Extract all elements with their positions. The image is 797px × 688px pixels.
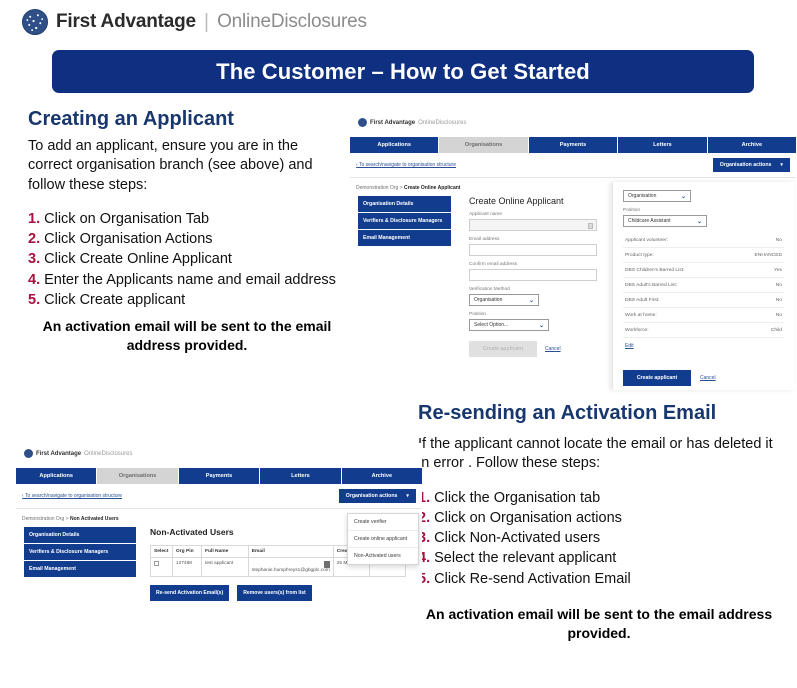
back-to-search-link[interactable]: ‹ To search/navigate to organisation str… bbox=[356, 162, 456, 168]
cell-email-text: stephanie.humphreys1@gbgplc.com bbox=[252, 568, 330, 573]
list-item: 1. Click on Organisation Tab bbox=[28, 209, 346, 229]
chevron-down-icon: ⌄ bbox=[681, 193, 686, 200]
detail-row: Applicant volunteer:No bbox=[623, 233, 784, 248]
sidebar-item-verifiers[interactable]: Verifiers & Disclosure Managers bbox=[24, 544, 136, 561]
detail-value: No bbox=[776, 298, 782, 303]
app-brand: First Advantage OnlineDisclosures bbox=[350, 112, 796, 127]
chevron-down-icon: ▾ bbox=[780, 162, 783, 168]
title-banner: The Customer – How to Get Started bbox=[52, 50, 754, 93]
step-text: Click Create Online Applicant bbox=[44, 251, 232, 267]
list-item: 5. Click Re-send Activation Email bbox=[418, 569, 780, 589]
sidebar-item-organisation-details[interactable]: Organisation Details bbox=[358, 196, 451, 213]
breadcrumb-current: Create Online Applicant bbox=[404, 185, 461, 191]
step-number: 3. bbox=[28, 251, 40, 267]
tab-payments[interactable]: Payments bbox=[529, 137, 618, 153]
tab-organisations[interactable]: Organisations bbox=[439, 137, 528, 153]
verification-method-label: Verification Method bbox=[469, 287, 597, 292]
breadcrumb-root[interactable]: Demonstration Org bbox=[22, 516, 64, 522]
detail-row: DBS Adult's Barred List:No bbox=[623, 278, 784, 293]
panel-actions: Create applicant Cancel bbox=[623, 370, 784, 386]
detail-label: Workforce: bbox=[625, 328, 649, 333]
step-text: Click the Organisation tab bbox=[434, 490, 600, 506]
tab-letters[interactable]: Letters bbox=[618, 137, 707, 153]
list-item: 5. Click Create applicant bbox=[28, 290, 346, 310]
tab-payments[interactable]: Payments bbox=[179, 468, 260, 484]
create-applicant-form: Create Online Applicant Applicant name E… bbox=[469, 196, 597, 357]
list-item: 4. Enter the Applicants name and email a… bbox=[28, 270, 346, 290]
row-checkbox[interactable] bbox=[154, 561, 159, 566]
table-actions: Re-send Activation Email(s) Remove users… bbox=[150, 585, 406, 601]
slide-page: First Advantage | OnlineDisclosures The … bbox=[0, 0, 797, 688]
brand-product: OnlineDisclosures bbox=[217, 11, 367, 33]
panel-position-value: Childcare Assistant bbox=[628, 218, 671, 224]
main-nav: Applications Organisations Payments Lett… bbox=[16, 468, 422, 484]
cell-email: stephanie.humphreys1@gbgplc.com bbox=[248, 558, 333, 577]
back-link-label: To search/navigate to organisation struc… bbox=[359, 162, 456, 168]
organisation-actions-button[interactable]: Organisation actions ▾ bbox=[339, 489, 416, 503]
menu-item-create-online-applicant[interactable]: Create online applicant bbox=[348, 531, 418, 548]
list-item: 3. Click Non-Activated users bbox=[418, 528, 780, 548]
panel-create-applicant-button[interactable]: Create applicant bbox=[623, 370, 691, 386]
step-number: 4. bbox=[28, 272, 40, 288]
confirm-email-input[interactable] bbox=[469, 269, 597, 281]
chevron-down-icon: ⌄ bbox=[529, 297, 534, 304]
sidebar-item-organisation-details[interactable]: Organisation Details bbox=[24, 527, 136, 544]
tab-archive[interactable]: Archive bbox=[342, 468, 422, 484]
organisation-actions-button[interactable]: Organisation actions ▾ bbox=[713, 158, 790, 172]
section-intro-creating: To add an applicant, ensure you are in t… bbox=[28, 137, 346, 195]
brand-separator: | bbox=[204, 11, 209, 34]
position-value: Select Option... bbox=[474, 322, 508, 328]
steps-list-resending: 1. Click the Organisation tab 2. Click o… bbox=[418, 488, 780, 589]
brand-name: First Advantage bbox=[56, 11, 196, 33]
section-intro-resending: If the applicant cannot locate the email… bbox=[418, 435, 780, 474]
list-item: 4. Select the relevant applicant bbox=[418, 548, 780, 568]
form-actions: Create applicant Cancel bbox=[469, 341, 597, 357]
sidebar-item-email-management[interactable]: Email Management bbox=[358, 230, 451, 247]
detail-label: DBS Adult First: bbox=[625, 298, 660, 303]
step-text: Select the relevant applicant bbox=[434, 550, 616, 566]
sidebar-item-verifiers[interactable]: Verifiers & Disclosure Managers bbox=[358, 213, 451, 230]
column-select: Select bbox=[151, 546, 173, 558]
left-sidebar: Organisation Details Verifiers & Disclos… bbox=[358, 196, 451, 357]
detail-label: DBS Children's Barred List: bbox=[625, 268, 684, 273]
steps-list-creating: 1. Click on Organisation Tab 2. Click Or… bbox=[28, 209, 346, 310]
step-text: Click Create applicant bbox=[44, 292, 185, 308]
organisation-actions-menu: Create verifier Create online applicant … bbox=[347, 513, 419, 565]
organisation-actions-label: Organisation actions bbox=[346, 493, 398, 499]
detail-label: DBS Adult's Barred List: bbox=[625, 283, 677, 288]
cancel-link[interactable]: Cancel bbox=[545, 346, 561, 352]
person-icon bbox=[588, 223, 593, 229]
detail-row: DBS Adult First:No bbox=[623, 293, 784, 308]
position-label: Position bbox=[469, 312, 597, 317]
section-heading-resending: Re-sending an Activation Email bbox=[418, 402, 780, 425]
resend-activation-email-button[interactable]: Re-send Activation Email(s) bbox=[150, 585, 229, 601]
position-select[interactable]: Select Option... ⌄ bbox=[469, 319, 549, 331]
tab-organisations[interactable]: Organisations bbox=[97, 468, 178, 484]
step-number: 2. bbox=[28, 231, 40, 247]
menu-item-non-activated-users[interactable]: Non-Activated users bbox=[348, 548, 418, 564]
step-text: Click Non-Activated users bbox=[434, 530, 600, 546]
breadcrumb-root[interactable]: Demonstration Org bbox=[356, 185, 398, 191]
column-email: Email bbox=[248, 546, 333, 558]
detail-row: DBS Children's Barred List:Yes bbox=[623, 263, 784, 278]
chevron-left-icon: ‹ bbox=[356, 162, 358, 168]
chevron-left-icon: ‹ bbox=[22, 493, 24, 499]
note-creating: An activation email will be sent to the … bbox=[28, 317, 346, 354]
step-text: Click on Organisation Tab bbox=[44, 211, 209, 227]
breadcrumb-separator: > bbox=[66, 516, 69, 522]
step-text: Click Re-send Activation Email bbox=[434, 571, 631, 587]
organisation-actions-label: Organisation actions bbox=[720, 162, 772, 168]
detail-value: Child bbox=[771, 328, 782, 333]
detail-value: ENHANCED bbox=[755, 253, 782, 258]
detail-row: Work at home:No bbox=[623, 308, 784, 323]
sub-toolbar: ‹ To search/navigate to organisation str… bbox=[350, 153, 796, 178]
detail-value: No bbox=[776, 238, 782, 243]
step-text: Click Organisation Actions bbox=[44, 231, 212, 247]
organisation-select-value: Organisation bbox=[628, 193, 656, 199]
confirm-email-label: Confirm email address bbox=[469, 262, 597, 267]
tab-applications[interactable]: Applications bbox=[16, 468, 97, 484]
step-text: Enter the Applicants name and email addr… bbox=[44, 272, 336, 288]
app-brand-name: First Advantage bbox=[370, 120, 415, 126]
edit-link[interactable]: Edit bbox=[623, 338, 784, 354]
brand-header: First Advantage | OnlineDisclosures bbox=[22, 9, 367, 35]
chevron-down-icon: ⌄ bbox=[539, 322, 544, 329]
details-list: Applicant volunteer:No Product type:ENHA… bbox=[623, 233, 784, 338]
note-resending: An activation email will be sent to the … bbox=[418, 605, 780, 642]
panel-cancel-link[interactable]: Cancel bbox=[700, 375, 716, 381]
resending-email-section: Re-sending an Activation Email If the ap… bbox=[418, 402, 780, 642]
sidebar-item-email-management[interactable]: Email Management bbox=[24, 561, 136, 578]
detail-value: No bbox=[776, 283, 782, 288]
page-title: The Customer – How to Get Started bbox=[216, 59, 590, 85]
creating-applicant-section: Creating an Applicant To add an applican… bbox=[28, 108, 346, 354]
app-brand: First Advantage OnlineDisclosures bbox=[16, 443, 422, 458]
chevron-down-icon: ⌄ bbox=[697, 218, 702, 225]
email-address-input[interactable] bbox=[469, 244, 597, 256]
panel-position-label: Position bbox=[623, 208, 784, 213]
list-item: 1. Click the Organisation tab bbox=[418, 488, 780, 508]
menu-item-create-verifier[interactable]: Create verifier bbox=[348, 514, 418, 531]
app-brand-name: First Advantage bbox=[36, 451, 81, 457]
detail-label: Applicant volunteer: bbox=[625, 238, 668, 243]
cell-org-pin: 127488 bbox=[172, 558, 201, 577]
section-heading-creating: Creating an Applicant bbox=[28, 108, 346, 131]
cell-select[interactable] bbox=[151, 558, 173, 577]
breadcrumb-current: Non Activated Users bbox=[70, 516, 119, 522]
breadcrumb-separator: > bbox=[400, 185, 403, 191]
tab-archive[interactable]: Archive bbox=[708, 137, 796, 153]
sub-toolbar: ‹ To search/navigate to organisation str… bbox=[16, 484, 422, 509]
left-sidebar: Organisation Details Verifiers & Disclos… bbox=[24, 527, 136, 601]
column-org-pin: Org Pin bbox=[172, 546, 201, 558]
detail-value: Yes bbox=[774, 268, 782, 273]
list-item: 3. Click Create Online Applicant bbox=[28, 249, 346, 269]
list-item: 2. Click on Organisation actions bbox=[418, 508, 780, 528]
globe-icon bbox=[22, 9, 48, 35]
tab-letters[interactable]: Letters bbox=[260, 468, 341, 484]
email-icon bbox=[324, 561, 330, 568]
list-item: 2. Click Organisation Actions bbox=[28, 229, 346, 249]
form-title: Create Online Applicant bbox=[469, 196, 597, 206]
detail-value: No bbox=[776, 313, 782, 318]
verification-method-value: Organisation bbox=[474, 297, 502, 303]
detail-label: Product type: bbox=[625, 253, 654, 258]
panel-position-select[interactable]: Childcare Assistant ⌄ bbox=[623, 215, 707, 227]
step-number: 5. bbox=[28, 292, 40, 308]
step-number: 1. bbox=[28, 211, 40, 227]
remove-users-from-list-button[interactable]: Remove users(s) from list bbox=[237, 585, 312, 601]
detail-label: Work at home: bbox=[625, 313, 657, 318]
app-brand-product: OnlineDisclosures bbox=[84, 451, 132, 457]
back-to-search-link[interactable]: ‹ To search/navigate to organisation str… bbox=[22, 493, 122, 499]
position-details-panel: Organisation ⌄ Position Childcare Assist… bbox=[612, 182, 794, 390]
organisation-select[interactable]: Organisation ⌄ bbox=[623, 190, 691, 202]
detail-row: Product type:ENHANCED bbox=[623, 248, 784, 263]
tab-applications[interactable]: Applications bbox=[350, 137, 439, 153]
applicant-name-input[interactable] bbox=[469, 219, 597, 231]
app-brand-product: OnlineDisclosures bbox=[418, 120, 466, 126]
back-link-label: To search/navigate to organisation struc… bbox=[25, 493, 122, 499]
verification-method-select[interactable]: Organisation ⌄ bbox=[469, 294, 539, 306]
chevron-down-icon: ▾ bbox=[406, 493, 409, 499]
globe-icon bbox=[24, 449, 33, 458]
main-nav: Applications Organisations Payments Lett… bbox=[350, 137, 796, 153]
detail-row: Workforce:Child bbox=[623, 323, 784, 338]
globe-icon bbox=[358, 118, 367, 127]
email-address-label: Email address bbox=[469, 237, 597, 242]
column-full-name: Full Name bbox=[201, 546, 248, 558]
create-applicant-button[interactable]: Create applicant bbox=[469, 341, 537, 357]
cell-full-name: test applicant bbox=[201, 558, 248, 577]
step-text: Click on Organisation actions bbox=[434, 510, 622, 526]
applicant-name-label: Applicant name bbox=[469, 212, 597, 217]
